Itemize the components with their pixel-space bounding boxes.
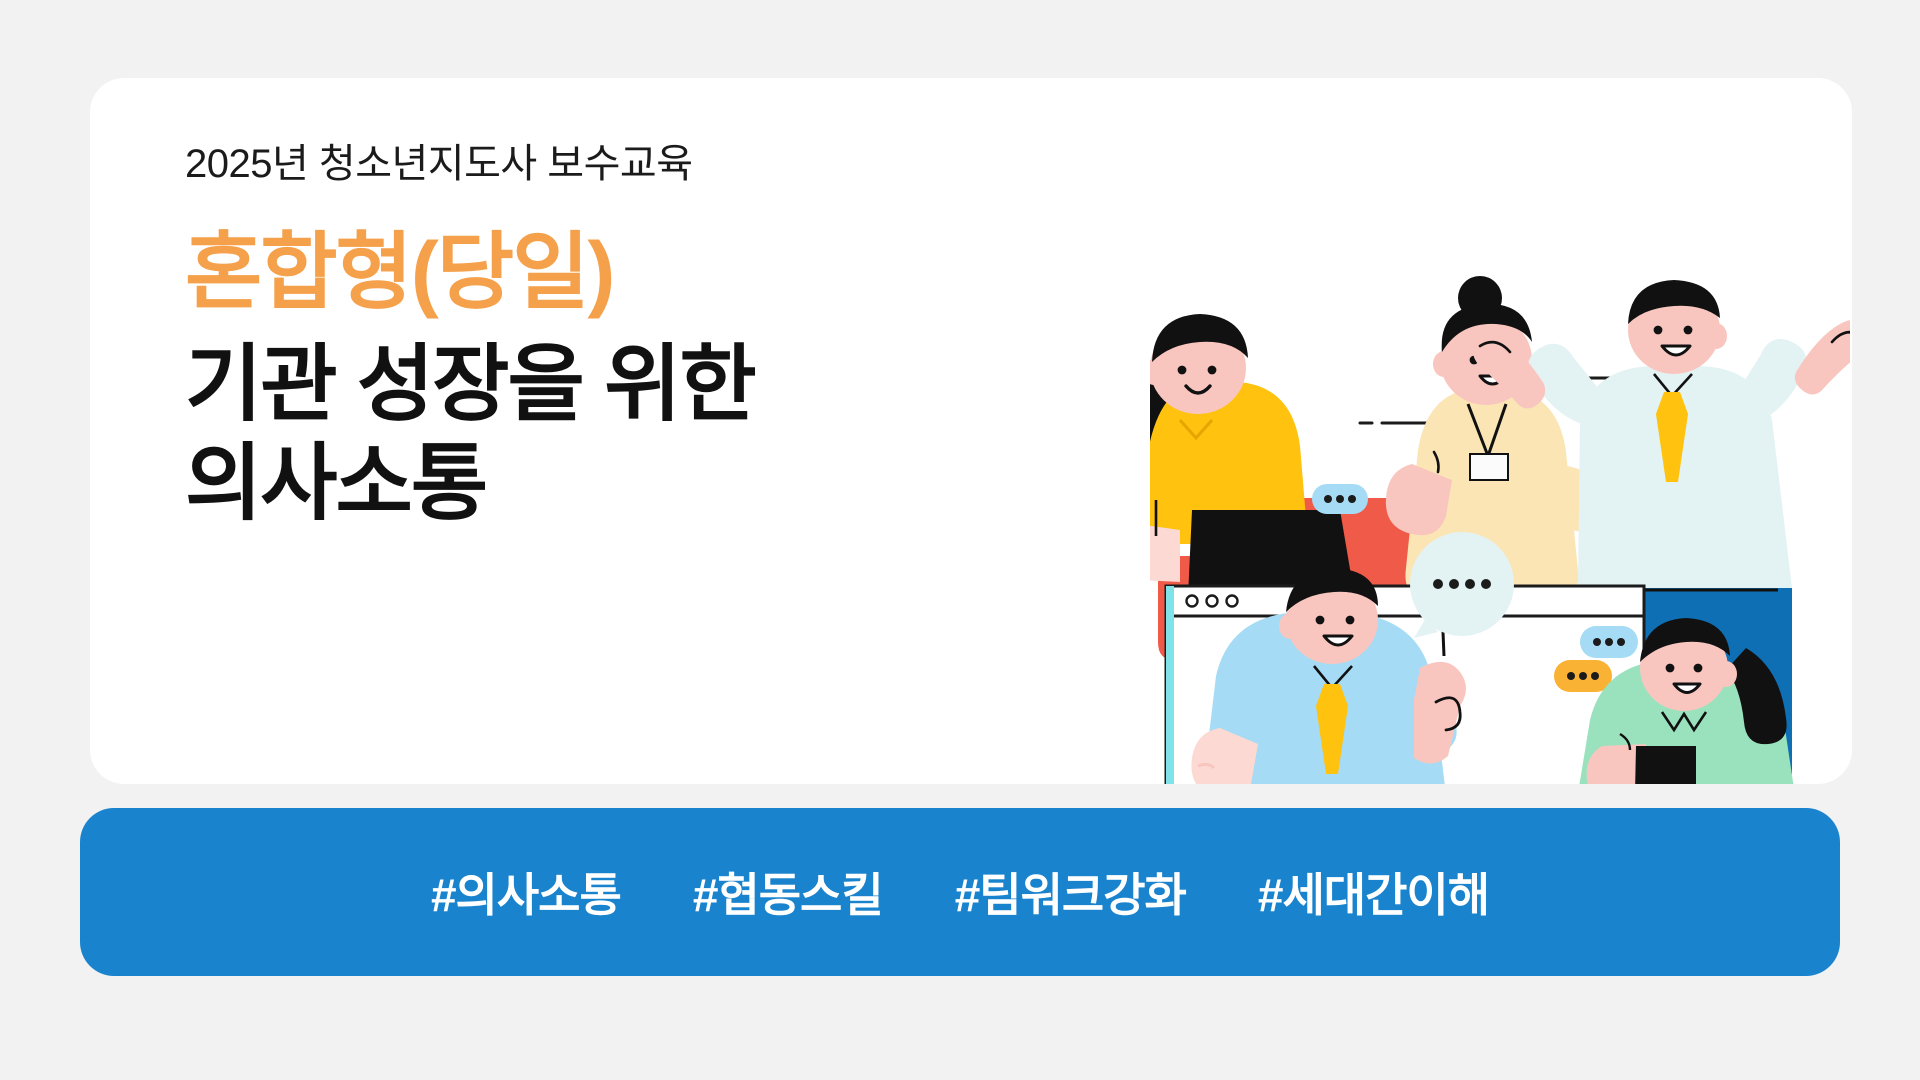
poster-canvas: 2025년 청소년지도사 보수교육 혼합형(당일) 기관 성장을 위한 의사소통… [0,0,1920,1080]
eyebrow-text: 2025년 청소년지도사 보수교육 [185,142,755,186]
bubble-orange [1554,660,1612,692]
team-communication-illustration [1150,268,1850,784]
hashtag-item[interactable]: #의사소통 [431,859,621,925]
hashtag-banner: #의사소통 #협동스킬 #팀워크강화 #세대간이해 [80,808,1840,976]
tablet [1634,746,1696,784]
hashtag-item[interactable]: #팀워크강화 [955,859,1186,925]
bubble-blue-small-left [1312,484,1368,514]
hashtag-item[interactable]: #협동스킬 [693,859,883,925]
title-main: 기관 성장을 위한 의사소통 [185,335,755,533]
title-line-1: 기관 성장을 위한 [185,335,755,434]
title-line-2: 의사소통 [185,434,755,533]
id-badge [1470,454,1508,480]
hero-text-block: 2025년 청소년지도사 보수교육 혼합형(당일) 기관 성장을 위한 의사소통 [185,142,755,533]
hashtag-item[interactable]: #세대간이해 [1258,859,1489,925]
hero-card: 2025년 청소년지도사 보수교육 혼합형(당일) 기관 성장을 위한 의사소통 [90,78,1852,784]
bubble-blue-right [1580,626,1638,658]
title-accent: 혼합형(당일) [185,228,755,317]
